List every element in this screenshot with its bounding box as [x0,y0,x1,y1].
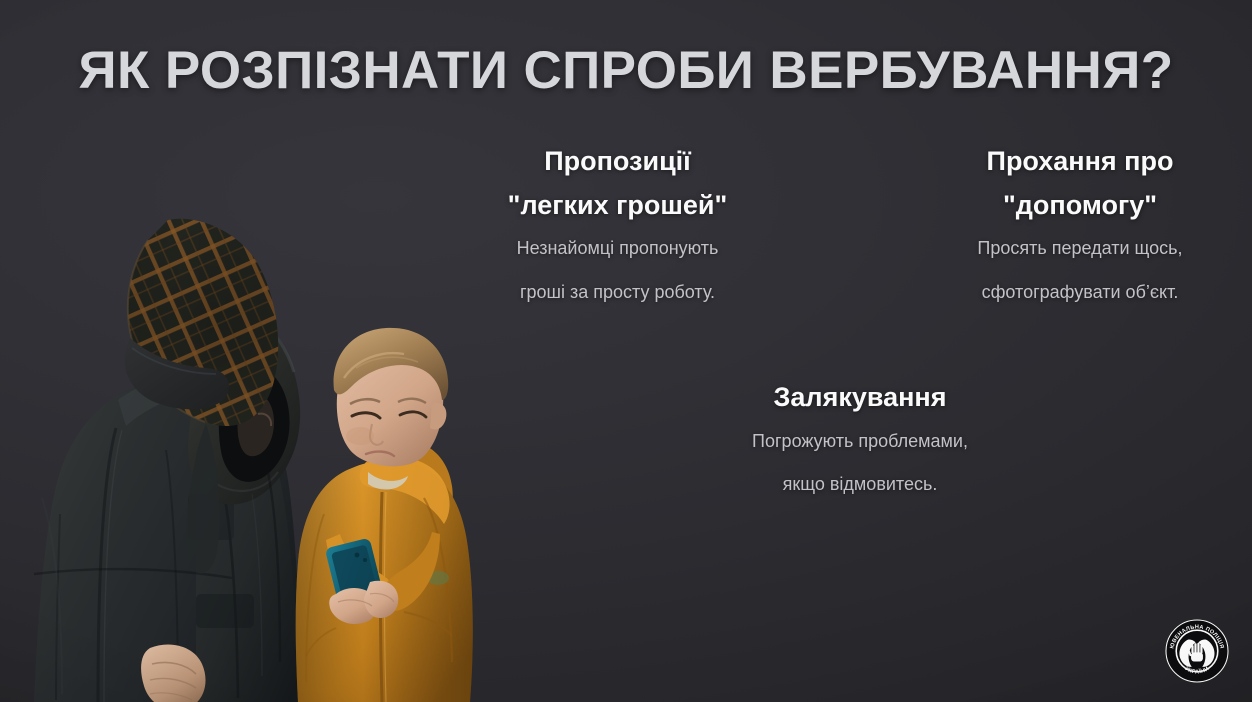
juvenile-police-emblem: ЮВЕНАЛЬНА ПОЛІЦІЯ УКРАЇНИ [1164,618,1230,684]
block-heading-line2: "легких грошей" [445,184,790,228]
page-title: ЯК РОЗПІЗНАТИ СПРОБИ ВЕРБУВАННЯ? [0,43,1252,99]
info-block-threats: Залякування Погрожують проблемами, якщо … [680,376,1040,507]
block-heading-line2: "допомогу" [915,184,1245,228]
block-heading-line1: Прохання про [915,140,1245,184]
block-body-line1: Погрожують проблемами, [680,420,1040,464]
info-block-help-request: Прохання про "допомогу" Просять передати… [915,140,1245,315]
block-body-line1: Просять передати щось, [915,227,1245,271]
block-heading-line1: Залякування [680,376,1040,420]
smartphone [325,538,388,621]
poster-root: ЯК РОЗПІЗНАТИ СПРОБИ ВЕРБУВАННЯ? [0,0,1252,702]
block-body-line1: Незнайомці пропонують [445,227,790,271]
boy-with-phone-figure [296,328,473,702]
block-body-line2: гроші за просту роботу. [445,271,790,315]
block-body-line2: сфотографувати об’єкт. [915,271,1245,315]
block-body-line2: якщо відмовитесь. [680,463,1040,507]
block-heading-line1: Пропозиції [445,140,790,184]
hooded-adult-figure [34,202,335,702]
info-block-easy-money: Пропозиції "легких грошей" Незнайомці пр… [445,140,790,315]
